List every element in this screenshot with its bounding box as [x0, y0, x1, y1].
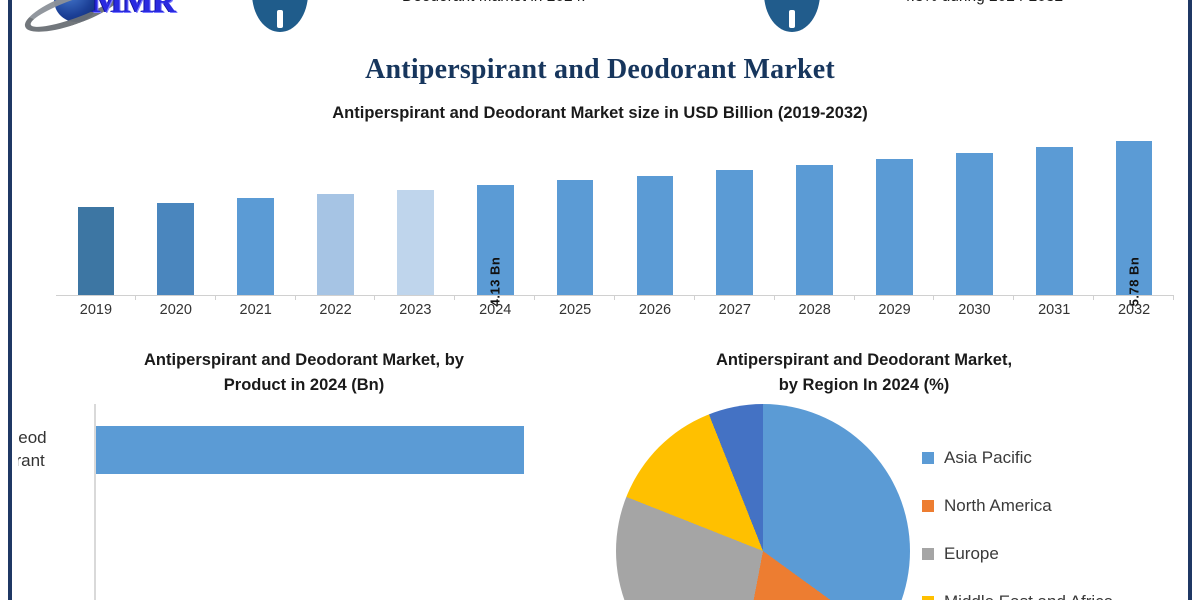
market-size-bar [876, 159, 913, 295]
by-product-title-line2: Product in 2024 (Bn) [28, 373, 580, 398]
header-strip: MMR Deodorant Market in 2024. 4.3% durin… [12, 0, 1188, 46]
market-size-bar: 4.13 Bn [477, 185, 514, 295]
pie-legend-item: Asia Pacific [922, 434, 1113, 482]
mmr-logo-text: MMR [92, 0, 175, 21]
by-product-title-line1: Antiperspirant and Deodorant Market, by [28, 348, 580, 373]
x-axis-tick-label: 2024 [455, 302, 535, 318]
bar-value-label: 4.13 Bn [488, 257, 503, 307]
legend-swatch [922, 452, 934, 464]
x-axis-tick-label: 2020 [136, 302, 216, 318]
by-region-chart-title: Antiperspirant and Deodorant Market, by … [600, 348, 1128, 398]
mmr-logo: MMR [16, 0, 226, 28]
by-region-title-line1: Antiperspirant and Deodorant Market, [600, 348, 1128, 373]
by-product-bar [96, 426, 524, 474]
by-product-plot-area: Deodorant [94, 404, 576, 600]
pie-disc [616, 404, 910, 600]
bar-slot [855, 130, 935, 295]
by-product-category-label: Deodorant [18, 426, 84, 472]
shield-icon-right [764, 0, 820, 32]
x-axis-tick-label: 2027 [695, 302, 775, 318]
bar-slot [136, 130, 216, 295]
legend-swatch [922, 500, 934, 512]
legend-swatch [922, 596, 934, 600]
bar-slot [296, 130, 376, 295]
x-axis-tick-label: 2029 [855, 302, 935, 318]
bar-value-label: 5.78 Bn [1127, 257, 1142, 307]
market-size-bar [796, 165, 833, 295]
x-axis-tick-label: 2021 [216, 302, 296, 318]
header-middle-text: Deodorant Market in 2024. [402, 0, 732, 6]
market-size-bar [78, 207, 115, 295]
shield-glyph-right [789, 10, 795, 28]
bar-slot [535, 130, 615, 295]
market-size-bar [317, 194, 354, 295]
market-size-chart-title: Antiperspirant and Deodorant Market size… [18, 104, 1182, 123]
pie-legend: Asia PacificNorth AmericaEuropeMiddle Ea… [922, 434, 1113, 600]
bar-slot [375, 130, 455, 295]
market-size-bars: 4.13 Bn5.78 Bn [56, 130, 1174, 295]
category-label-line: Deod [18, 426, 84, 449]
legend-label: Europe [944, 544, 999, 564]
bar-slot [934, 130, 1014, 295]
legend-label: North America [944, 496, 1052, 516]
x-axis-line [56, 295, 1174, 296]
x-axis-tick-label: 2030 [934, 302, 1014, 318]
market-size-bar [637, 176, 674, 295]
market-size-bar [397, 190, 434, 295]
market-size-bar [1036, 147, 1073, 295]
by-region-title-line2: by Region In 2024 (%) [600, 373, 1128, 398]
by-product-bar-chart: Antiperspirant and Deodorant Market, by … [18, 348, 584, 600]
by-region-pie-chart: Antiperspirant and Deodorant Market, by … [600, 348, 1188, 600]
bar-slot: 5.78 Bn [1094, 130, 1174, 295]
market-size-bar [237, 198, 274, 295]
frame-border-right [1188, 0, 1192, 600]
legend-swatch [922, 548, 934, 560]
shield-icon-left [252, 0, 308, 32]
by-product-chart-title: Antiperspirant and Deodorant Market, by … [28, 348, 580, 398]
header-right-text: 4.3% during 2024-2032 [902, 0, 1188, 6]
market-size-bar [956, 153, 993, 295]
legend-label: Asia Pacific [944, 448, 1032, 468]
pie-legend-item: North America [922, 482, 1113, 530]
x-axis-tick-label: 2031 [1014, 302, 1094, 318]
x-axis-tick-label: 2022 [296, 302, 376, 318]
legend-label: Middle East and Africa [944, 592, 1113, 600]
by-product-bar-row: Deodorant [96, 426, 524, 474]
pie-legend-item: Middle East and Africa [922, 578, 1113, 600]
bar-slot [775, 130, 855, 295]
x-axis-tick-label: 2023 [375, 302, 455, 318]
bar-slot [615, 130, 695, 295]
x-axis-tick-label: 2019 [56, 302, 136, 318]
market-size-bar [716, 170, 753, 295]
pie-legend-item: Europe [922, 530, 1113, 578]
page-title: Antiperspirant and Deodorant Market [0, 54, 1200, 86]
bar-slot [56, 130, 136, 295]
bar-slot: 4.13 Bn [455, 130, 535, 295]
bar-slot [1014, 130, 1094, 295]
category-label-line: orant [18, 449, 84, 472]
x-axis-tick-label: 2032 [1094, 302, 1174, 318]
market-size-bar: 5.78 Bn [1116, 141, 1153, 295]
bar-slot [216, 130, 296, 295]
x-axis-tick-label: 2028 [775, 302, 855, 318]
shield-glyph-left [277, 10, 283, 28]
x-axis-tick-label: 2025 [535, 302, 615, 318]
bar-slot [695, 130, 775, 295]
frame-border-left [8, 0, 12, 600]
market-size-x-axis-labels: 2019202020212022202320242025202620272028… [56, 302, 1174, 318]
market-size-plot-area: 4.13 Bn5.78 Bn [56, 130, 1174, 296]
market-size-bar [557, 180, 594, 295]
market-size-bar-chart: Antiperspirant and Deodorant Market size… [18, 104, 1182, 329]
x-axis-tick-label: 2026 [615, 302, 695, 318]
market-size-bar [157, 203, 194, 295]
